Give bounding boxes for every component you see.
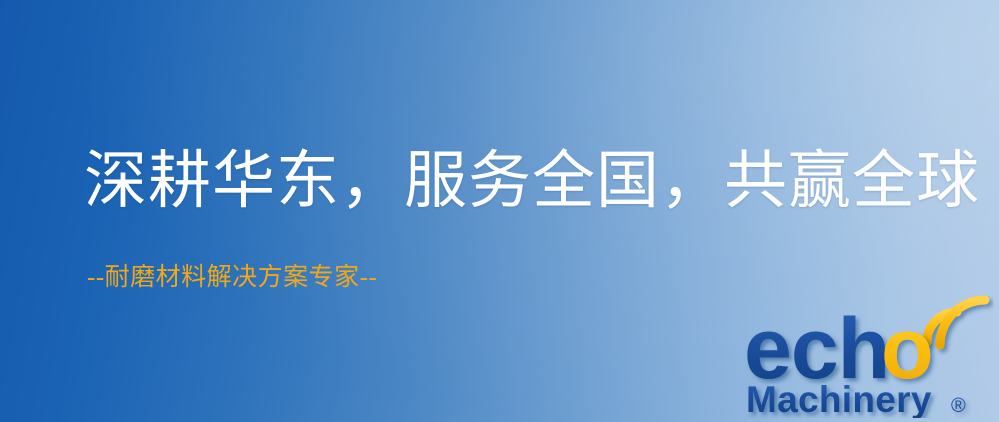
banner-headline: 深耕华东，服务全国，共赢全球 [84, 150, 980, 213]
svg-text:Machinery: Machinery [746, 379, 932, 418]
registered-mark: ® [951, 395, 966, 417]
hero-banner: 深耕华东，服务全国，共赢全球 --耐磨材料解决方案专家-- [0, 0, 999, 422]
signal-waves-icon [927, 300, 985, 345]
banner-subtitle: --耐磨材料解决方案专家-- [87, 265, 377, 290]
company-logo[interactable]: ech o Machinery ® [744, 296, 994, 418]
